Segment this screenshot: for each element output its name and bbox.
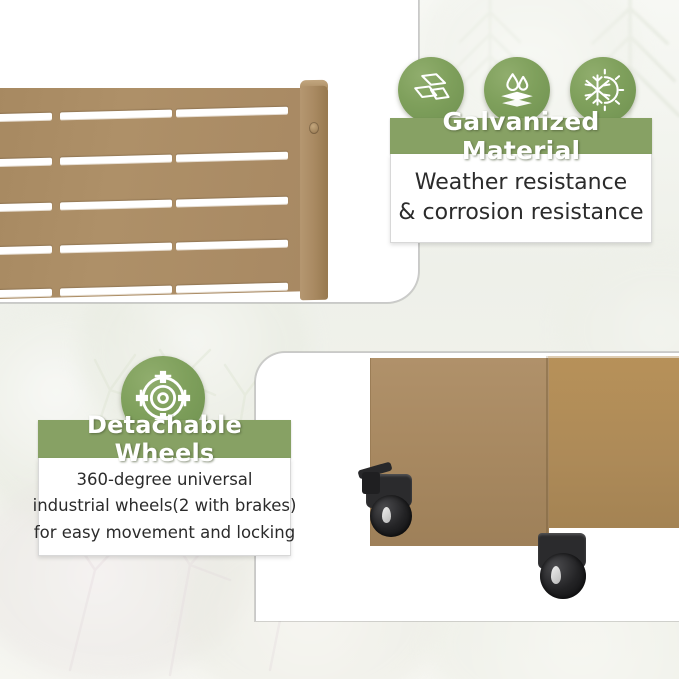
- wheels-body-line-3: for easy movement and locking: [34, 520, 295, 546]
- slat-slot: [0, 158, 52, 167]
- cabinet-corner-seam: [546, 356, 548, 546]
- caster-wheel-tire: [370, 495, 412, 537]
- slat-slot: [60, 155, 172, 165]
- panel-screw: [309, 122, 319, 134]
- galvanized-body-line-2: & corrosion resistance: [398, 198, 643, 228]
- caster-plate: [362, 472, 380, 494]
- galvanized-body-line-1: Weather resistance: [415, 168, 627, 198]
- slat-slot: [0, 246, 52, 255]
- slat-slot: [60, 110, 172, 120]
- caster-wheel-hub: [382, 507, 391, 523]
- wheels-callout-body: 360-degree universal industrial wheels(2…: [38, 458, 291, 556]
- caster-wheel-tire: [540, 553, 586, 599]
- cabinet-top-edge: [368, 355, 679, 358]
- product-feature-image: Galvanized Material Weather resistance &…: [0, 0, 679, 679]
- louvered-slat-panel: [0, 88, 320, 300]
- galvanized-material-callout: Galvanized Material Weather resistance &…: [390, 118, 652, 243]
- slat-slot: [60, 286, 172, 296]
- slat-slot: [176, 107, 288, 117]
- galvanized-callout-title: Galvanized Material: [390, 118, 652, 154]
- slat-slot: [60, 200, 172, 210]
- slat-slot: [176, 152, 288, 162]
- wheels-body-line-1: 360-degree universal: [76, 467, 252, 493]
- slat-slot: [176, 240, 288, 250]
- slat-slot: [176, 283, 288, 293]
- slat-slot: [0, 203, 52, 212]
- panel-post: [300, 86, 328, 301]
- cabinet-side-face: [548, 356, 679, 528]
- wheels-callout-title: Detachable Wheels: [38, 420, 291, 458]
- slat-slot: [176, 197, 288, 207]
- slat-slot: [0, 289, 52, 298]
- slat-panel-body: [0, 88, 300, 300]
- galvanized-callout-body: Weather resistance & corrosion resistanc…: [390, 154, 652, 243]
- detachable-wheels-callout: Detachable Wheels 360-degree universal i…: [38, 420, 291, 556]
- slat-slot: [0, 113, 52, 122]
- caster-wheel-hub: [551, 566, 561, 584]
- slat-slot: [60, 243, 172, 253]
- wheels-body-line-2: industrial wheels(2 with brakes): [33, 493, 297, 519]
